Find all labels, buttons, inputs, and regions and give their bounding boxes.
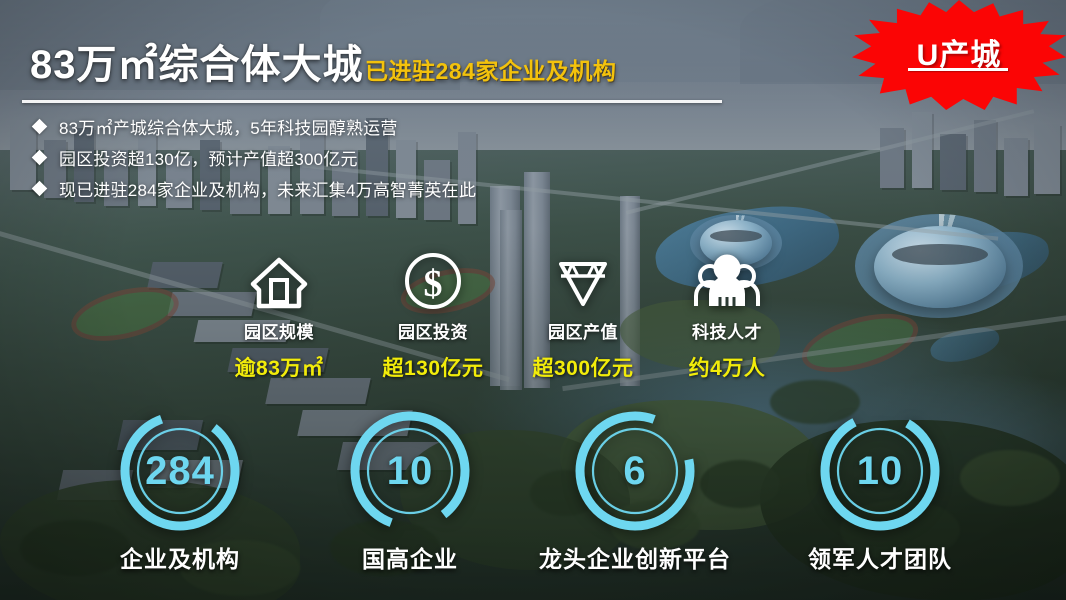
bullet-list: 83万㎡产城综合体大城，5年科技园醇熟运营 园区投资超130亿，预计产值超300… xyxy=(34,112,476,205)
house-icon xyxy=(204,246,354,312)
icon-stat-label: 科技人才 xyxy=(652,318,802,343)
diamond-bullet-icon xyxy=(32,118,48,134)
list-item: 现已进驻284家企业及机构，未来汇集4万高智菁英在此 xyxy=(34,174,476,202)
page-subtitle: 已进驻284家企业及机构 xyxy=(365,52,616,86)
icon-stat-park-scale: 园区规模 逾83万㎡ xyxy=(204,246,354,382)
ring-wrapper: 6 xyxy=(570,406,700,536)
header-divider xyxy=(22,100,722,103)
circle-stat-label: 龙头企业创新平台 xyxy=(520,540,750,574)
circle-stat-number: 10 xyxy=(815,406,945,536)
icon-stat-value: 超130亿元 xyxy=(358,352,508,382)
icon-stat-park-investment: $ 园区投资 超130亿元 xyxy=(358,246,508,382)
icon-stats-row: 园区规模 逾83万㎡ $ 园区投资 超130亿元 xyxy=(0,246,1066,376)
bullet-text: 园区投资超130亿，预计产值超300亿元 xyxy=(59,145,358,170)
circle-stat-label: 领军人才团队 xyxy=(765,540,995,574)
slide-canvas: 83万㎡综合体大城 已进驻284家企业及机构 83万㎡产城综合体大城，5年科技园… xyxy=(0,0,1066,600)
people-group-icon xyxy=(652,246,802,312)
circle-stat-label: 企业及机构 xyxy=(65,540,295,574)
svg-text:$: $ xyxy=(424,263,443,305)
diamond-icon xyxy=(508,246,658,312)
icon-stat-park-output: 园区产值 超300亿元 xyxy=(508,246,658,382)
circle-stat-talent-teams: 10 领军人才团队 xyxy=(765,406,995,574)
page-title: 83万㎡综合体大城 xyxy=(30,32,364,90)
list-item: 园区投资超130亿，预计产值超300亿元 xyxy=(34,143,476,171)
circle-stat-number: 6 xyxy=(570,406,700,536)
diamond-bullet-icon xyxy=(32,180,48,196)
circle-stat-number: 10 xyxy=(345,406,475,536)
icon-stat-tech-talent: 科技人才 约4万人 xyxy=(652,246,802,382)
icon-stat-value: 超300亿元 xyxy=(508,352,658,382)
icon-stat-label: 园区投资 xyxy=(358,318,508,343)
circle-stat-label: 国高企业 xyxy=(295,540,525,574)
circle-stat-number: 284 xyxy=(115,406,245,536)
icon-stat-label: 园区规模 xyxy=(204,318,354,343)
icon-stat-label: 园区产值 xyxy=(508,318,658,343)
ring-wrapper: 284 xyxy=(115,406,245,536)
dollar-circle-icon: $ xyxy=(358,246,508,312)
page-title-text: 83万㎡综合体大城 xyxy=(30,43,364,87)
bullet-text: 83万㎡产城综合体大城，5年科技园醇熟运营 xyxy=(59,114,398,139)
circle-stats-row: 284 企业及机构 10 国高企业 6 龙头企业创新平台 xyxy=(0,406,1066,600)
diamond-bullet-icon xyxy=(32,149,48,165)
badge-underline xyxy=(908,68,1008,71)
icon-stat-value: 约4万人 xyxy=(652,352,802,382)
icon-stat-value: 逾83万㎡ xyxy=(204,352,354,382)
list-item: 83万㎡产城综合体大城，5年科技园醇熟运营 xyxy=(34,112,476,140)
brand-starburst-badge: U产城 xyxy=(852,0,1066,110)
circle-stat-leading-platforms: 6 龙头企业创新平台 xyxy=(520,406,750,574)
bullet-text: 现已进驻284家企业及机构，未来汇集4万高智菁英在此 xyxy=(59,176,476,201)
ring-wrapper: 10 xyxy=(815,406,945,536)
ring-wrapper: 10 xyxy=(345,406,475,536)
circle-stat-national-high-tech: 10 国高企业 xyxy=(295,406,525,574)
circle-stat-enterprises: 284 企业及机构 xyxy=(65,406,295,574)
